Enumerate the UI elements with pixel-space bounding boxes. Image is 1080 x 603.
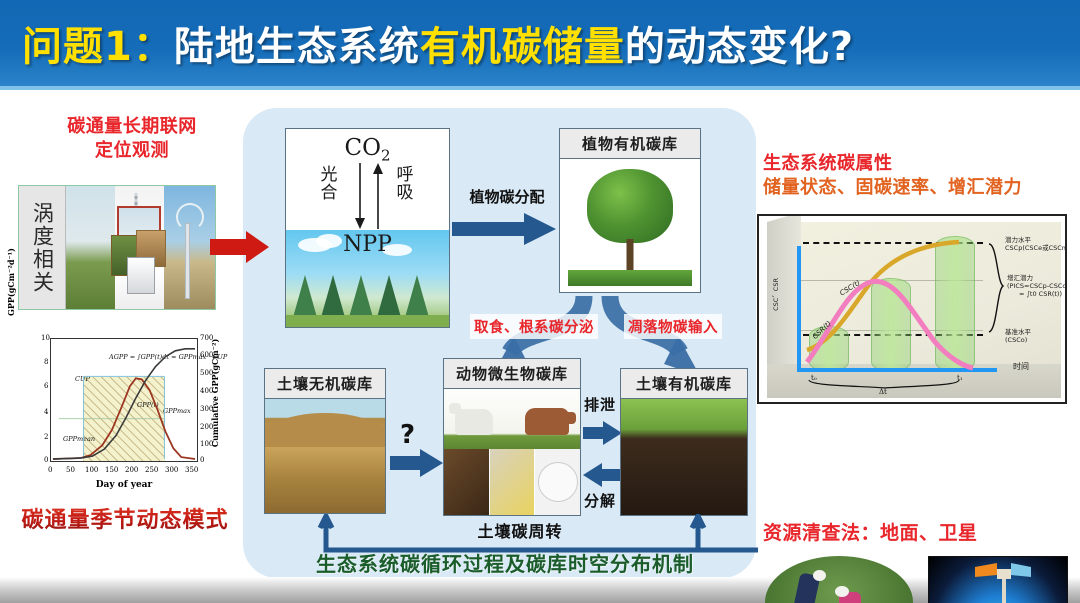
title-highlight: 有机碳储量 <box>420 24 625 70</box>
excretion-arrow <box>583 420 623 446</box>
inorganic-to-biota-arrow <box>390 448 444 478</box>
flux-observation-title-line2: 定位观测 <box>32 139 232 163</box>
unknown-process-question-mark: ? <box>400 420 415 450</box>
grazing-animals-photo <box>444 389 580 449</box>
gpp-y2tick-700: 700 <box>200 334 213 342</box>
plant-pool-title: 植物有机碳库 <box>560 129 700 159</box>
tree-trunk <box>627 239 634 271</box>
flux-observation-title: 碳通量长期联网 定位观测 <box>32 115 232 163</box>
animal-microbe-carbon-pool-box: 动物微生物碳库 <box>443 358 581 516</box>
bottom-gradient-band <box>0 577 1080 603</box>
eddy-covariance-label: 涡度相关 <box>19 186 66 309</box>
plant-pool-image <box>560 159 700 292</box>
red-arrow-to-co2-box <box>210 228 270 266</box>
decomposition-label: 分解 <box>584 490 616 511</box>
csc-t1-tick: t₁ <box>957 374 963 382</box>
biota-pool-title: 动物微生物碳库 <box>444 359 580 389</box>
inventory-method-title: 资源清查法：地面、卫星 <box>763 518 1073 545</box>
surveyor-2-hat <box>835 586 849 597</box>
soil-inorganic-pool-title: 土壤无机碳库 <box>265 369 385 399</box>
page-title: 问题1：陆地生态系统有机碳储量的动态变化? <box>22 14 854 72</box>
csc-sink-potential-label: 增汇潜力 (PICS=CSCp-CSCo = ∫t0 CSR(t)) <box>1007 274 1066 298</box>
eddy-covariance-figure: 涡度相关 <box>18 185 216 310</box>
litter-input-tag: 凋落物碳输入 <box>624 314 722 339</box>
gpp-y2tick-200: 200 <box>200 423 213 431</box>
potential-level-line1: 潜力水平 <box>1005 236 1067 244</box>
csc-y-axis-label: CSC、CSR <box>771 278 781 311</box>
gpp-xtick-100: 100 <box>85 466 98 474</box>
ecosystem-carbon-attributes-title: 生态系统碳属性 储量状态、固碳速率、增汇潜力 <box>763 152 1073 201</box>
fungus-photo <box>490 449 536 515</box>
tower-photo-left <box>66 186 115 309</box>
gpp-ytick-6: 6 <box>44 382 48 390</box>
gpp-ytick-10: 10 <box>41 334 50 342</box>
tree-lawn <box>568 270 692 286</box>
gpp-xtick-150: 150 <box>105 466 118 474</box>
forest-ground <box>286 315 449 327</box>
co2-label: CO2 <box>286 135 449 165</box>
csc-time-label: 时间 <box>1013 362 1029 372</box>
csc-3d-scene: CSC、CSR 潜力水平 CSCp(CSCe或CSCmax) 增汇潜力 (PIC… <box>767 222 1061 398</box>
flux-tower-2-icon <box>185 223 190 299</box>
surveyor-1-hat <box>813 570 826 581</box>
soil-inorganic-pool-image <box>265 399 385 513</box>
title-prefix: 问题1： <box>22 24 174 70</box>
gpp-y2tick-600: 600 <box>200 351 213 359</box>
eddy-photo-collage <box>66 186 215 309</box>
co2-npp-box: CO2 光合 呼吸 NPP <box>285 128 450 328</box>
sink-potential-line2: (PICS=CSCp-CSCo <box>1007 282 1066 290</box>
potential-level-line2: CSCp(CSCe或CSCmax) <box>1005 244 1067 252</box>
csc-potential-level-label: 潜力水平 CSCp(CSCe或CSCmax) <box>1005 236 1067 252</box>
gpp-plot-area: AGPP = ∫GPP(t)dt ≈ GPPmax · CUP CUP GPP(… <box>50 338 198 462</box>
soil-organic-carbon-pool-box: 土壤有机碳库 <box>620 368 748 516</box>
flux-observation-title-line1: 碳通量长期联网 <box>32 115 232 139</box>
gpp-curves <box>51 339 197 461</box>
gpp-y2tick-0: 0 <box>200 456 204 464</box>
slide-header: 问题1：陆地生态系统有机碳储量的动态变化? <box>0 0 1080 90</box>
gpp-seasonal-chart: GPP(gCm⁻²d⁻¹) Cumulative GPP(gCm⁻²) AGPP… <box>14 328 234 500</box>
goat-icon <box>455 409 493 435</box>
microbe-icon <box>538 462 578 502</box>
respiration-label: 呼吸 <box>394 167 416 203</box>
biota-pool-image <box>444 389 580 515</box>
gpp-ytick-8: 8 <box>44 358 48 366</box>
gpp-xtick-350: 350 <box>185 466 198 474</box>
csc-t0-tick: t₀ <box>811 374 817 382</box>
allocation-arrow <box>452 212 557 246</box>
gpp-xtick-50: 50 <box>66 466 75 474</box>
satellite-remote-sensing-photo <box>928 556 1068 603</box>
microscope-photo <box>535 449 580 515</box>
gpp-xtick-250: 250 <box>145 466 158 474</box>
plant-organic-carbon-pool-box: 植物有机碳库 <box>559 128 701 293</box>
broadleaf-tree-icon <box>587 169 673 243</box>
title-suffix: 的动态变化? <box>625 24 854 70</box>
grazing-root-exudate-tag: 取食、根系碳分泌 <box>470 314 598 339</box>
bottom-caption: 生态系统碳循环过程及碳库时空分布机制 <box>255 548 755 577</box>
attributes-title-line2: 储量状态、固碳速率、增汇潜力 <box>763 176 1073 200</box>
soil-organic-pool-title: 土壤有机碳库 <box>621 369 747 399</box>
gpp-ytick-0: 0 <box>44 456 48 464</box>
litter-decay-photo <box>444 449 490 515</box>
co2-subscript: 2 <box>381 147 391 165</box>
cow-icon <box>525 408 569 435</box>
co2-text: CO <box>344 135 380 161</box>
gpp-y2tick-500: 500 <box>200 369 213 377</box>
sink-potential-line1: 增汇潜力 <box>1007 274 1066 282</box>
gpp-xtick-300: 300 <box>165 466 178 474</box>
sink-potential-line3: = ∫t0 CSR(t)) <box>1007 290 1066 298</box>
gpp-y2tick-100: 100 <box>200 440 213 448</box>
grass-soil-profile-photo <box>621 399 747 515</box>
gpp-y2tick-400: 400 <box>200 387 213 395</box>
soil-carbon-turnover-label: 土壤碳周转 <box>430 518 610 542</box>
soil-organic-pool-image <box>621 399 747 515</box>
baseline-line2: (CSCo) <box>1005 336 1031 344</box>
gpp-xtick-200: 200 <box>125 466 138 474</box>
plant-carbon-allocation-label: 植物碳分配 <box>452 186 562 207</box>
gpp-y-axis-label: GPP(gCm⁻²d⁻¹) <box>6 222 16 342</box>
baseline-line1: 基准水平 <box>1005 328 1031 336</box>
npp-label: NPP <box>286 232 449 257</box>
carbon-sink-potential-chart: CSC、CSR 潜力水平 CSCp(CSCe或CSCmax) 增汇潜力 (PIC… <box>757 214 1067 404</box>
csc-baseline-label: 基准水平 (CSCo) <box>1005 328 1031 344</box>
inset-photo-d <box>127 257 155 294</box>
photosynthesis-label: 光合 <box>318 167 340 203</box>
exchange-arrows <box>348 163 390 229</box>
gpp-ytick-2: 2 <box>44 433 48 441</box>
gpp-xtick-0: 0 <box>48 466 52 474</box>
decomposition-arrow <box>583 462 623 488</box>
gpp-x-axis-label: Day of year <box>50 480 198 490</box>
slide-body: 碳通量长期联网 定位观测 涡度相关 GPP(gCm⁻²d⁻¹) Cumulati… <box>0 90 1080 603</box>
satellite-icon <box>973 561 1033 603</box>
excretion-label: 排泄 <box>584 394 616 415</box>
flux-chart-caption: 碳通量季节动态模式 <box>10 502 240 534</box>
gpp-y2tick-300: 300 <box>200 405 213 413</box>
attributes-title-line1: 生态系统碳属性 <box>763 152 1073 176</box>
microbe-photos <box>444 449 580 515</box>
field-survey-photo <box>765 556 913 603</box>
title-mid: 陆地生态系统 <box>174 24 420 70</box>
gpp-ytick-4: 4 <box>44 408 48 416</box>
soil-inorganic-carbon-pool-box: 土壤无机碳库 <box>264 368 386 514</box>
csc-delta-t-label: Δt <box>879 388 887 396</box>
